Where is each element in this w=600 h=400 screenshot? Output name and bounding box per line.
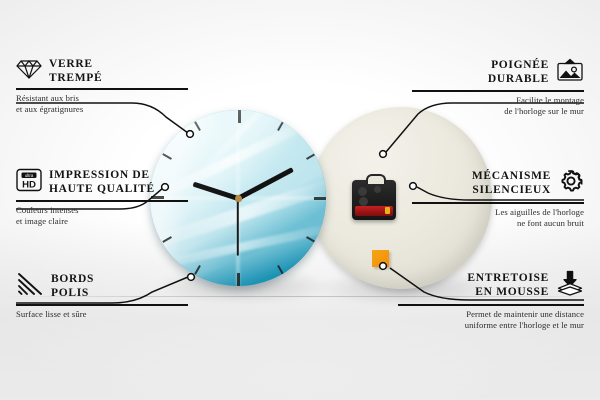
feature-description: Permet de maintenir une distance uniform…: [398, 309, 584, 331]
movement-dial-1: [358, 187, 367, 196]
feature-description: Surface lisse et sûre: [16, 309, 188, 320]
feature-description: Résistant aux bris et aux égratignures: [16, 93, 188, 115]
divider: [16, 88, 188, 90]
svg-text:ultra: ultra: [25, 173, 34, 178]
feature-high-quality-print: ultra HD IMPRESSION DE HAUTE QUALITÉ Cou…: [16, 168, 188, 227]
divider: [412, 202, 584, 204]
feature-foam-spacer: ENTRETOISE EN MOUSSE Permet de maintenir…: [398, 270, 584, 331]
battery: [355, 206, 393, 216]
feature-description: Couleurs intenses et image claire: [16, 205, 188, 227]
gear-icon: [558, 168, 584, 199]
svg-text:HD: HD: [22, 179, 36, 190]
clock-movement: [352, 180, 396, 220]
feature-title: MÉCANISME SILENCIEUX: [472, 170, 551, 197]
feature-title: POIGNÉE DURABLE: [488, 59, 549, 86]
divider: [412, 90, 584, 92]
feature-title: ENTRETOISE EN MOUSSE: [467, 272, 549, 299]
polished-edges-icon: [16, 272, 44, 301]
feature-polished-edges: BORDS POLIS Surface lisse et sûre: [16, 272, 188, 320]
divider: [16, 200, 188, 202]
foam-spacer-icon: [556, 270, 584, 301]
feature-description: Les aiguilles de l'horloge ne font aucun…: [412, 207, 584, 229]
foam-spacer: [372, 250, 389, 267]
ultra-hd-icon: ultra HD: [16, 168, 42, 197]
product-infographic: VERRE TREMPÉ Résistant aux bris et aux é…: [0, 0, 600, 400]
movement-dial-2: [374, 186, 381, 193]
battery-terminal: [385, 207, 390, 214]
feature-silent-movement: MÉCANISME SILENCIEUX Les aiguilles de l'…: [412, 168, 584, 229]
picture-hanger-icon: [556, 58, 584, 87]
feature-title: VERRE TREMPÉ: [49, 58, 102, 85]
feature-tempered-glass: VERRE TREMPÉ Résistant aux bris et aux é…: [16, 58, 188, 115]
feature-title: BORDS POLIS: [51, 273, 94, 300]
movement-dial-3: [359, 197, 368, 206]
feature-title: IMPRESSION DE HAUTE QUALITÉ: [49, 169, 155, 196]
feature-description: Facilite le montage de l'horloge sur le …: [412, 95, 584, 117]
divider: [398, 304, 584, 306]
diamond-icon: [16, 58, 42, 85]
feature-durable-hanger: POIGNÉE DURABLE Facilite le montage de l…: [412, 58, 584, 117]
hanger-lug-icon: [366, 174, 386, 184]
divider: [16, 304, 188, 306]
